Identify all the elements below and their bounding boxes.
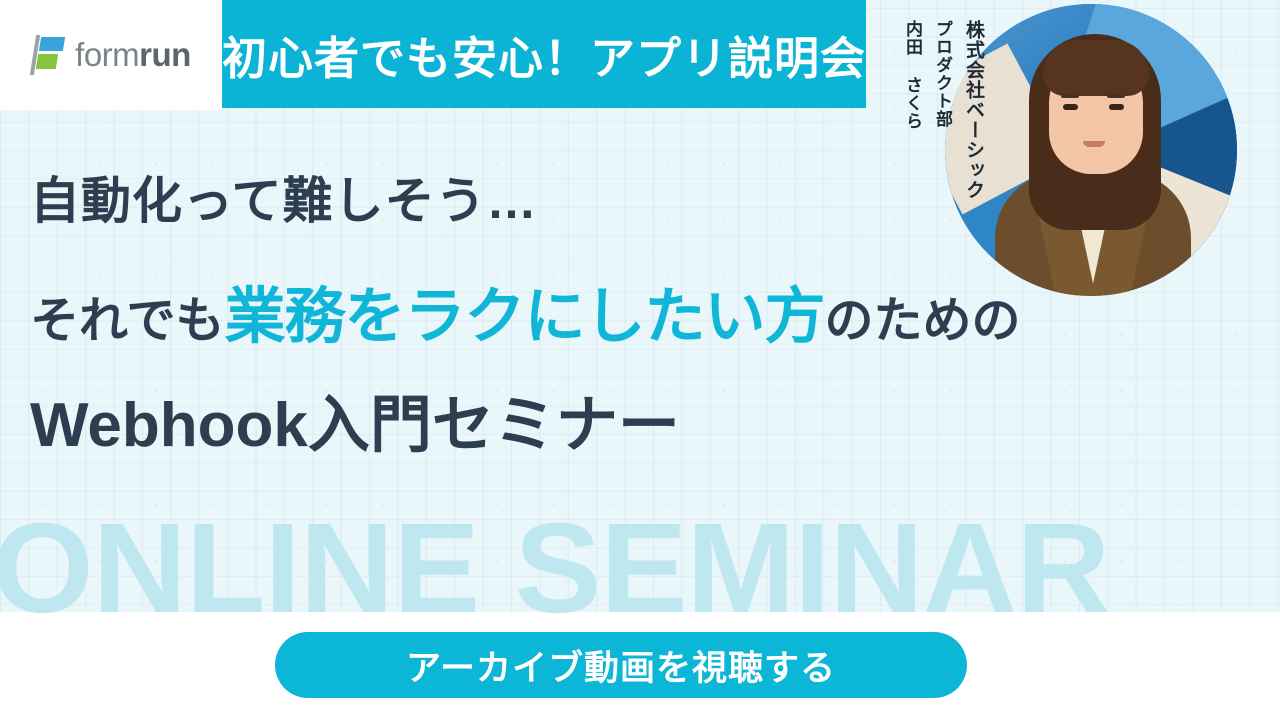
headline-line-1: 自動化って難しそう… bbox=[30, 176, 1250, 226]
formrun-flag-icon bbox=[31, 35, 65, 75]
logo-blue-shape bbox=[39, 37, 65, 51]
event-banner-text: 初心者でも安心！アプリ説明会 bbox=[222, 22, 866, 87]
event-banner: 初心者でも安心！アプリ説明会 bbox=[222, 0, 866, 108]
speaker-department: プロダクト部 bbox=[930, 20, 955, 200]
seminar-banner-page: ONLINE SEMINAR formrun 初心者でも安心！アプリ説明会 bbox=[0, 0, 1280, 720]
speaker-eye-right bbox=[1109, 104, 1124, 110]
headline-line-3: Webhook入門セミナー bbox=[30, 395, 1250, 457]
speaker-fringe bbox=[1043, 40, 1149, 96]
logo-word-form: form bbox=[75, 36, 139, 73]
speaker-eyebrow-left bbox=[1061, 94, 1079, 98]
logo-word-run: run bbox=[139, 36, 191, 73]
speaker-eye-left bbox=[1063, 104, 1078, 110]
speaker-eyebrow-right bbox=[1107, 94, 1125, 98]
speaker-mouth bbox=[1083, 141, 1105, 147]
formrun-wordmark: formrun bbox=[75, 36, 191, 74]
speaker-company: 株式会社ベーシック bbox=[960, 20, 987, 200]
speaker-caption: 株式会社ベーシック プロダクト部 内田 さくら bbox=[900, 20, 987, 200]
speaker-name: 内田 さくら bbox=[900, 20, 925, 200]
headline-line-2: それでも業務をラクにしたい方のための bbox=[30, 286, 1250, 347]
headline-block: 自動化って難しそう… それでも業務をラクにしたい方のための Webhook入門セ… bbox=[30, 176, 1250, 457]
watch-archive-button-label: アーカイブ動画を視聴する bbox=[406, 640, 836, 691]
headline-line-2-accent: 業務をラクにしたい方 bbox=[225, 282, 825, 350]
headline-line-2-prefix: それでも bbox=[30, 294, 225, 348]
headline-line-2-suffix: のための bbox=[825, 294, 1021, 348]
formrun-logo[interactable]: formrun bbox=[0, 0, 222, 110]
online-seminar-watermark: ONLINE SEMINAR bbox=[0, 505, 1280, 633]
watch-archive-button[interactable]: アーカイブ動画を視聴する bbox=[275, 632, 967, 698]
logo-green-shape bbox=[36, 54, 58, 69]
